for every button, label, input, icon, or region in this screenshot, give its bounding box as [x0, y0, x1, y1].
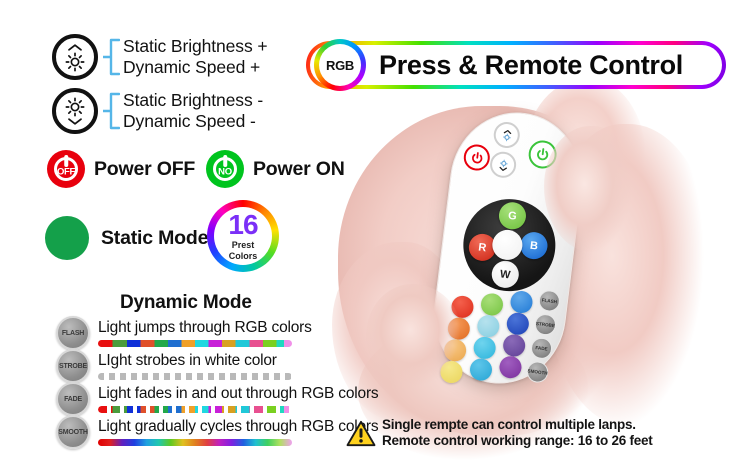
- pad-center-button[interactable]: [491, 228, 524, 261]
- color-button[interactable]: [498, 355, 523, 380]
- fade-color-bar: [98, 406, 292, 413]
- static-mode-group: Static Mode: [45, 216, 208, 260]
- power-off-label: Power OFF: [94, 158, 195, 181]
- brightness-up-line1: Static Brightness +: [123, 36, 268, 57]
- preset-colors-badge: 16 Prest Colors: [207, 200, 279, 272]
- dynamic-row-smooth: SMOOTH Light gradually cycles through RG…: [56, 415, 378, 449]
- remote-brightness-down-button[interactable]: [489, 150, 518, 179]
- color-button[interactable]: [509, 290, 534, 315]
- remote-mode-button-flash[interactable]: FLASH: [538, 289, 561, 312]
- sun-chevron-down-icon: [495, 156, 512, 173]
- mode-button-strobe[interactable]: STROBE: [56, 349, 90, 383]
- dynamic-fade-text: Light fades in and out through RGB color…: [98, 385, 378, 413]
- power-off-group: OFF Power OFF: [47, 150, 195, 188]
- dynamic-strobe-text: LIght strobes in white color: [98, 352, 292, 380]
- brightness-up-label: Static Brightness + Dynamic Speed +: [123, 36, 268, 79]
- infographic-canvas: G B R W FLASH STRO: [0, 0, 750, 464]
- chevron-up-icon: [67, 43, 83, 52]
- mode-button-strobe-label: STROBE: [59, 363, 87, 370]
- power-stem: [64, 155, 68, 167]
- dynamic-strobe-description: LIght strobes in white color: [98, 352, 292, 370]
- rgb-badge: RGB: [314, 39, 366, 91]
- sun-icon: [65, 52, 85, 72]
- color-button[interactable]: [476, 314, 501, 339]
- dynamic-flash-description: Light jumps through RGB colors: [98, 319, 312, 337]
- smooth-color-bar: [98, 439, 292, 446]
- dynamic-row-fade: FADE Light fades in and out through RGB …: [56, 382, 378, 416]
- power-on-label: Power ON: [253, 158, 345, 181]
- brightness-down-icon-button[interactable]: [52, 88, 98, 134]
- preset-colors-count: 16: [228, 211, 257, 239]
- pad-button-b[interactable]: B: [519, 231, 549, 261]
- power-off-icon[interactable]: OFF: [47, 150, 85, 188]
- preset-colors-line2: Colors: [228, 251, 257, 261]
- dynamic-fade-description: Light fades in and out through RGB color…: [98, 385, 378, 403]
- color-button[interactable]: [480, 292, 505, 317]
- warning-triangle-icon: [346, 420, 376, 447]
- sun-icon: [65, 97, 85, 117]
- power-stem: [223, 155, 227, 167]
- power-off-badge-label: OFF: [57, 167, 75, 178]
- preset-colors-line1: Prest: [228, 240, 257, 250]
- flash-color-bar: [98, 340, 292, 347]
- brightness-up-line2: Dynamic Speed +: [123, 57, 268, 78]
- brightness-down-line2: Dynamic Speed -: [123, 111, 263, 132]
- mode-button-smooth-label: SMOOTH: [58, 429, 88, 436]
- remote-power-off-button[interactable]: [462, 143, 491, 172]
- preset-colors-inner: 16 Prest Colors: [228, 211, 257, 261]
- power-on-group: NO Power ON: [206, 150, 345, 188]
- header-banner-inner: RGB Press & Remote Control: [310, 45, 722, 85]
- dynamic-row-strobe: STROBE LIght strobes in white color: [56, 349, 292, 383]
- chevron-up-sun-icon: [498, 127, 515, 144]
- brightness-down-row: Static Brightness - Dynamic Speed -: [52, 88, 263, 134]
- power-icon: [470, 150, 484, 164]
- rgbw-color-pad[interactable]: G B R W: [458, 194, 561, 297]
- mode-button-fade-label: FADE: [64, 396, 82, 403]
- mode-button-smooth[interactable]: SMOOTH: [56, 415, 90, 449]
- mode-button-flash[interactable]: FLASH: [56, 316, 90, 350]
- remote-brightness-up-button[interactable]: [492, 121, 521, 150]
- power-on-badge-label: NO: [218, 167, 232, 178]
- brightness-up-icon-button[interactable]: [52, 34, 98, 80]
- warning-line2: Remote control working range: 16 to 26 f…: [382, 433, 653, 449]
- remote-mode-button-fade[interactable]: FADE: [530, 337, 553, 360]
- thumb-tip-overlap: [366, 284, 462, 388]
- chevron-down-icon: [67, 117, 83, 126]
- strobe-color-bar: [98, 373, 292, 380]
- header-banner: RGB Press & Remote Control: [306, 41, 726, 89]
- pad-button-g[interactable]: G: [497, 201, 527, 231]
- brightness-down-line1: Static Brightness -: [123, 90, 263, 111]
- preset-colors-ring: 16 Prest Colors: [207, 200, 279, 272]
- page-title: Press & Remote Control: [333, 50, 699, 81]
- dynamic-flash-text: Light jumps through RGB colors: [98, 319, 312, 347]
- static-mode-color-dot[interactable]: [45, 216, 89, 260]
- static-mode-label: Static Mode: [101, 227, 208, 250]
- power-on-icon[interactable]: NO: [206, 150, 244, 188]
- remote-mode-button-smooth[interactable]: SMOOTH: [526, 360, 549, 383]
- dynamic-smooth-description: Light gradually cycles through RGB color…: [98, 418, 378, 436]
- brightness-up-row: Static Brightness + Dynamic Speed +: [52, 34, 268, 80]
- dynamic-smooth-text: Light gradually cycles through RGB color…: [98, 418, 378, 446]
- dynamic-row-flash: FLASH Light jumps through RGB colors: [56, 316, 312, 350]
- hand-holding-remote-photo: G B R W FLASH STRO: [330, 70, 750, 464]
- warning-line1: Single rempte can control multiple lanps…: [382, 417, 653, 433]
- mode-button-fade[interactable]: FADE: [56, 382, 90, 416]
- brightness-down-label: Static Brightness - Dynamic Speed -: [123, 90, 263, 133]
- dynamic-mode-title: Dynamic Mode: [120, 292, 252, 314]
- color-button[interactable]: [472, 336, 497, 361]
- color-button[interactable]: [502, 333, 527, 358]
- pad-button-w[interactable]: W: [490, 259, 520, 289]
- fingertip-overlap: [544, 126, 636, 252]
- bracket-connector: [103, 36, 120, 78]
- warning-text: Single rempte can control multiple lanps…: [382, 417, 653, 449]
- warning-note: Single rempte can control multiple lanps…: [346, 417, 653, 449]
- remote-mode-button-strobe[interactable]: STROBE: [534, 313, 557, 336]
- color-button[interactable]: [506, 312, 531, 337]
- rgb-badge-label: RGB: [326, 58, 354, 73]
- bracket-connector: [103, 90, 120, 132]
- mode-button-flash-label: FLASH: [62, 330, 84, 337]
